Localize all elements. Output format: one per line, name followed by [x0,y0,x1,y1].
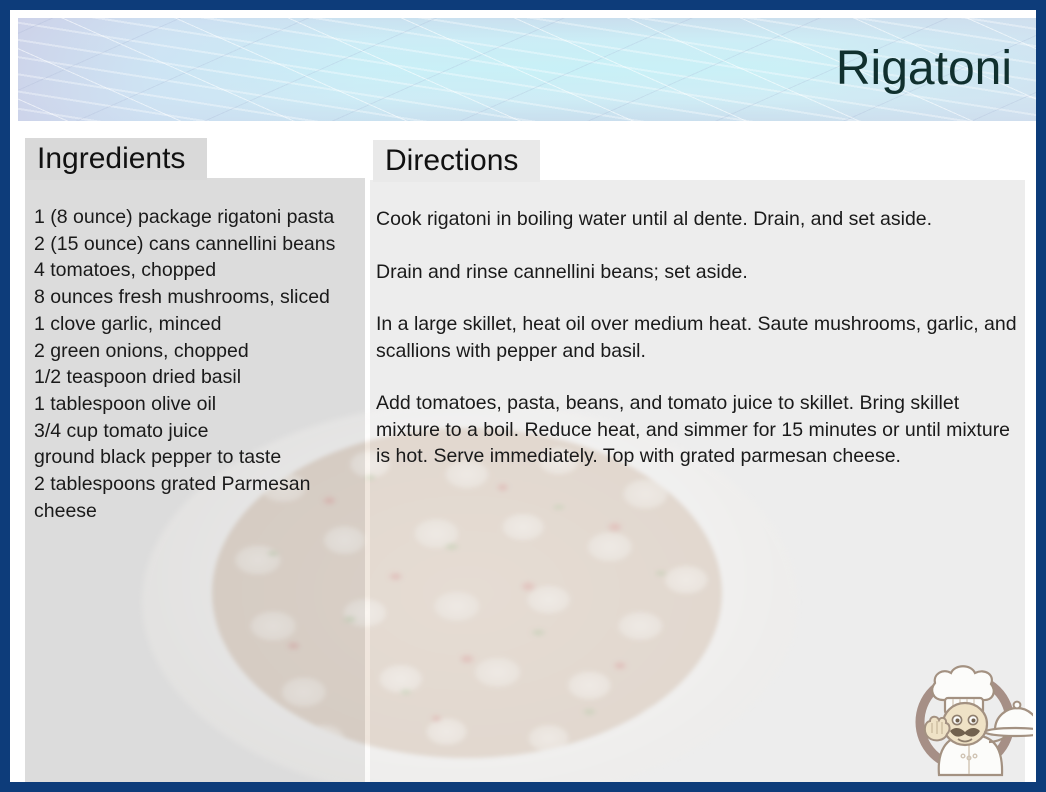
direction-step: Drain and rinse cannellini beans; set as… [376,259,1024,286]
direction-step: In a large skillet, heat oil over medium… [376,311,1024,364]
ingredient-item: 3/4 cup tomato juice [34,418,370,445]
ingredient-item: 1 tablespoon olive oil [34,391,370,418]
chef-with-cloche-logo [903,650,1033,780]
recipe-slide: Rigatoni Ingredients Directions 1 (8 oun… [0,0,1046,792]
ingredients-heading-label: Ingredients [37,144,185,174]
ingredients-list: 1 (8 ounce) package rigatoni pasta2 (15 … [34,204,370,524]
ingredient-item: cheese [34,498,370,525]
ingredient-item: 4 tomatoes, chopped [34,257,370,284]
ingredient-item: ground black pepper to taste [34,444,370,471]
directions-heading-tab: Directions [373,140,540,182]
direction-step: Cook rigatoni in boiling water until al … [376,206,1024,233]
ingredient-item: 1 (8 ounce) package rigatoni pasta [34,204,370,231]
header-banner: Rigatoni [18,18,1036,121]
ingredient-item: 8 ounces fresh mushrooms, sliced [34,284,370,311]
directions-heading-label: Directions [385,146,518,176]
ingredient-item: 1 clove garlic, minced [34,311,370,338]
ingredient-item: 2 tablespoons grated Parmesan [34,471,370,498]
ingredient-item: 2 (15 ounce) cans cannellini beans [34,231,370,258]
page-title: Rigatoni [836,45,1012,93]
ingredient-item: 2 green onions, chopped [34,338,370,365]
ingredients-heading-tab: Ingredients [25,138,207,180]
ingredient-item: 1/2 teaspoon dried basil [34,364,370,391]
ingredients-items: 1 (8 ounce) package rigatoni pasta2 (15 … [34,204,370,524]
direction-step: Add tomatoes, pasta, beans, and tomato j… [376,390,1024,470]
directions-text: Cook rigatoni in boiling water until al … [376,206,1024,470]
